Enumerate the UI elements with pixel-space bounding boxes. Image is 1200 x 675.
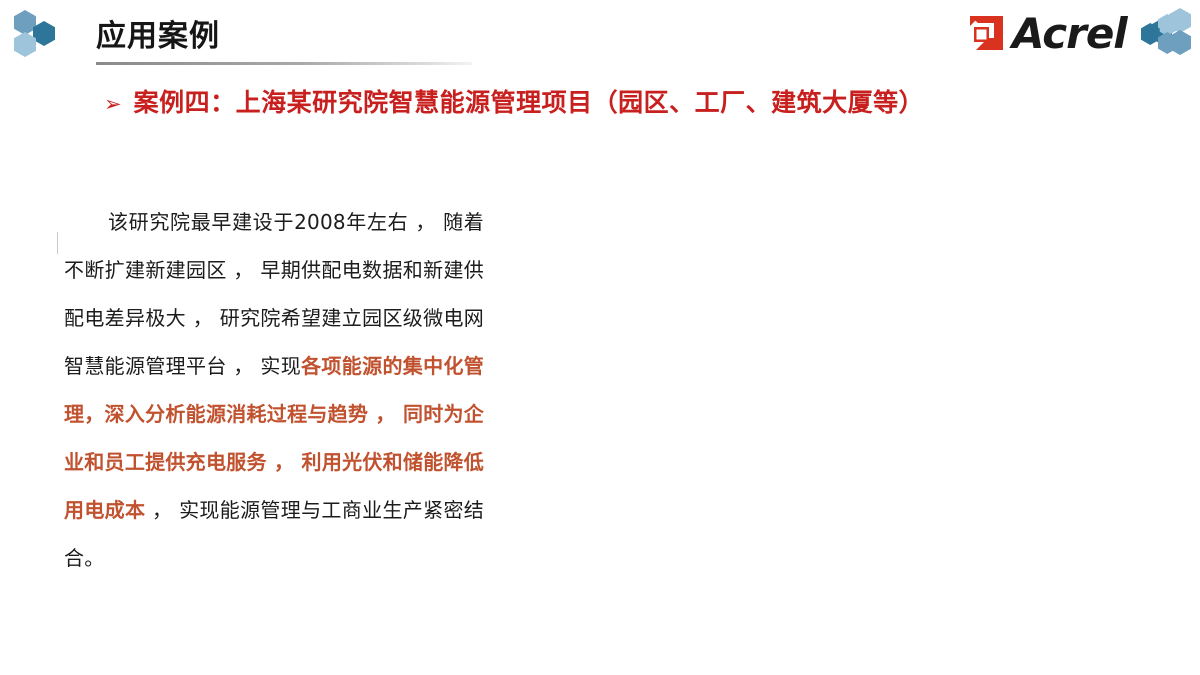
text-caret-artifact [57, 232, 58, 254]
case-heading: ➢ 案例四：上海某研究院智慧能源管理项目（园区、工厂、建筑大厦等） [104, 88, 924, 118]
body-highlight-text: 各项能源的集中化管理，深入分析能源消耗过程与趋势 ， 同时为企业和员工提供充电服… [64, 354, 484, 522]
acrel-mark-icon [966, 14, 1006, 54]
body-text-block: 该研究院最早建设于2008年左右 ， 随着不断扩建新建园区 ， 早期供配电数据和… [64, 178, 484, 602]
slide-canvas: Acrel 应用案例 ➢ 案例四：上海某研究院智慧能源管理项目（园区、工厂、建筑… [0, 0, 1200, 675]
acrel-logo: Acrel [966, 8, 1185, 60]
body-plain-text: 该研究院最早建设于2008年左右 ， 随着不断扩建新建园区 ， 早期供配电数据和… [64, 210, 484, 378]
title-underline-rule [96, 62, 472, 65]
hexagon-icon [33, 21, 55, 46]
case-heading-text: 案例四：上海某研究院智慧能源管理项目（园区、工厂、建筑大厦等） [134, 88, 925, 118]
body-paragraph: 该研究院最早建设于2008年左右 ， 随着不断扩建新建园区 ， 早期供配电数据和… [64, 198, 484, 582]
hexagon-icon [14, 32, 36, 57]
hexagon-icon [14, 10, 36, 35]
page-title: 应用案例 [96, 20, 896, 53]
acrel-hexagon-cluster [1139, 14, 1185, 54]
slide-title-block: 应用案例 [96, 20, 896, 65]
hexagon-cluster-left [12, 10, 68, 60]
hexagon-icon [1158, 32, 1177, 54]
arrow-bullet-icon: ➢ [104, 94, 122, 115]
hexagon-icon [1141, 23, 1160, 45]
acrel-wordmark: Acrel [1012, 13, 1127, 55]
